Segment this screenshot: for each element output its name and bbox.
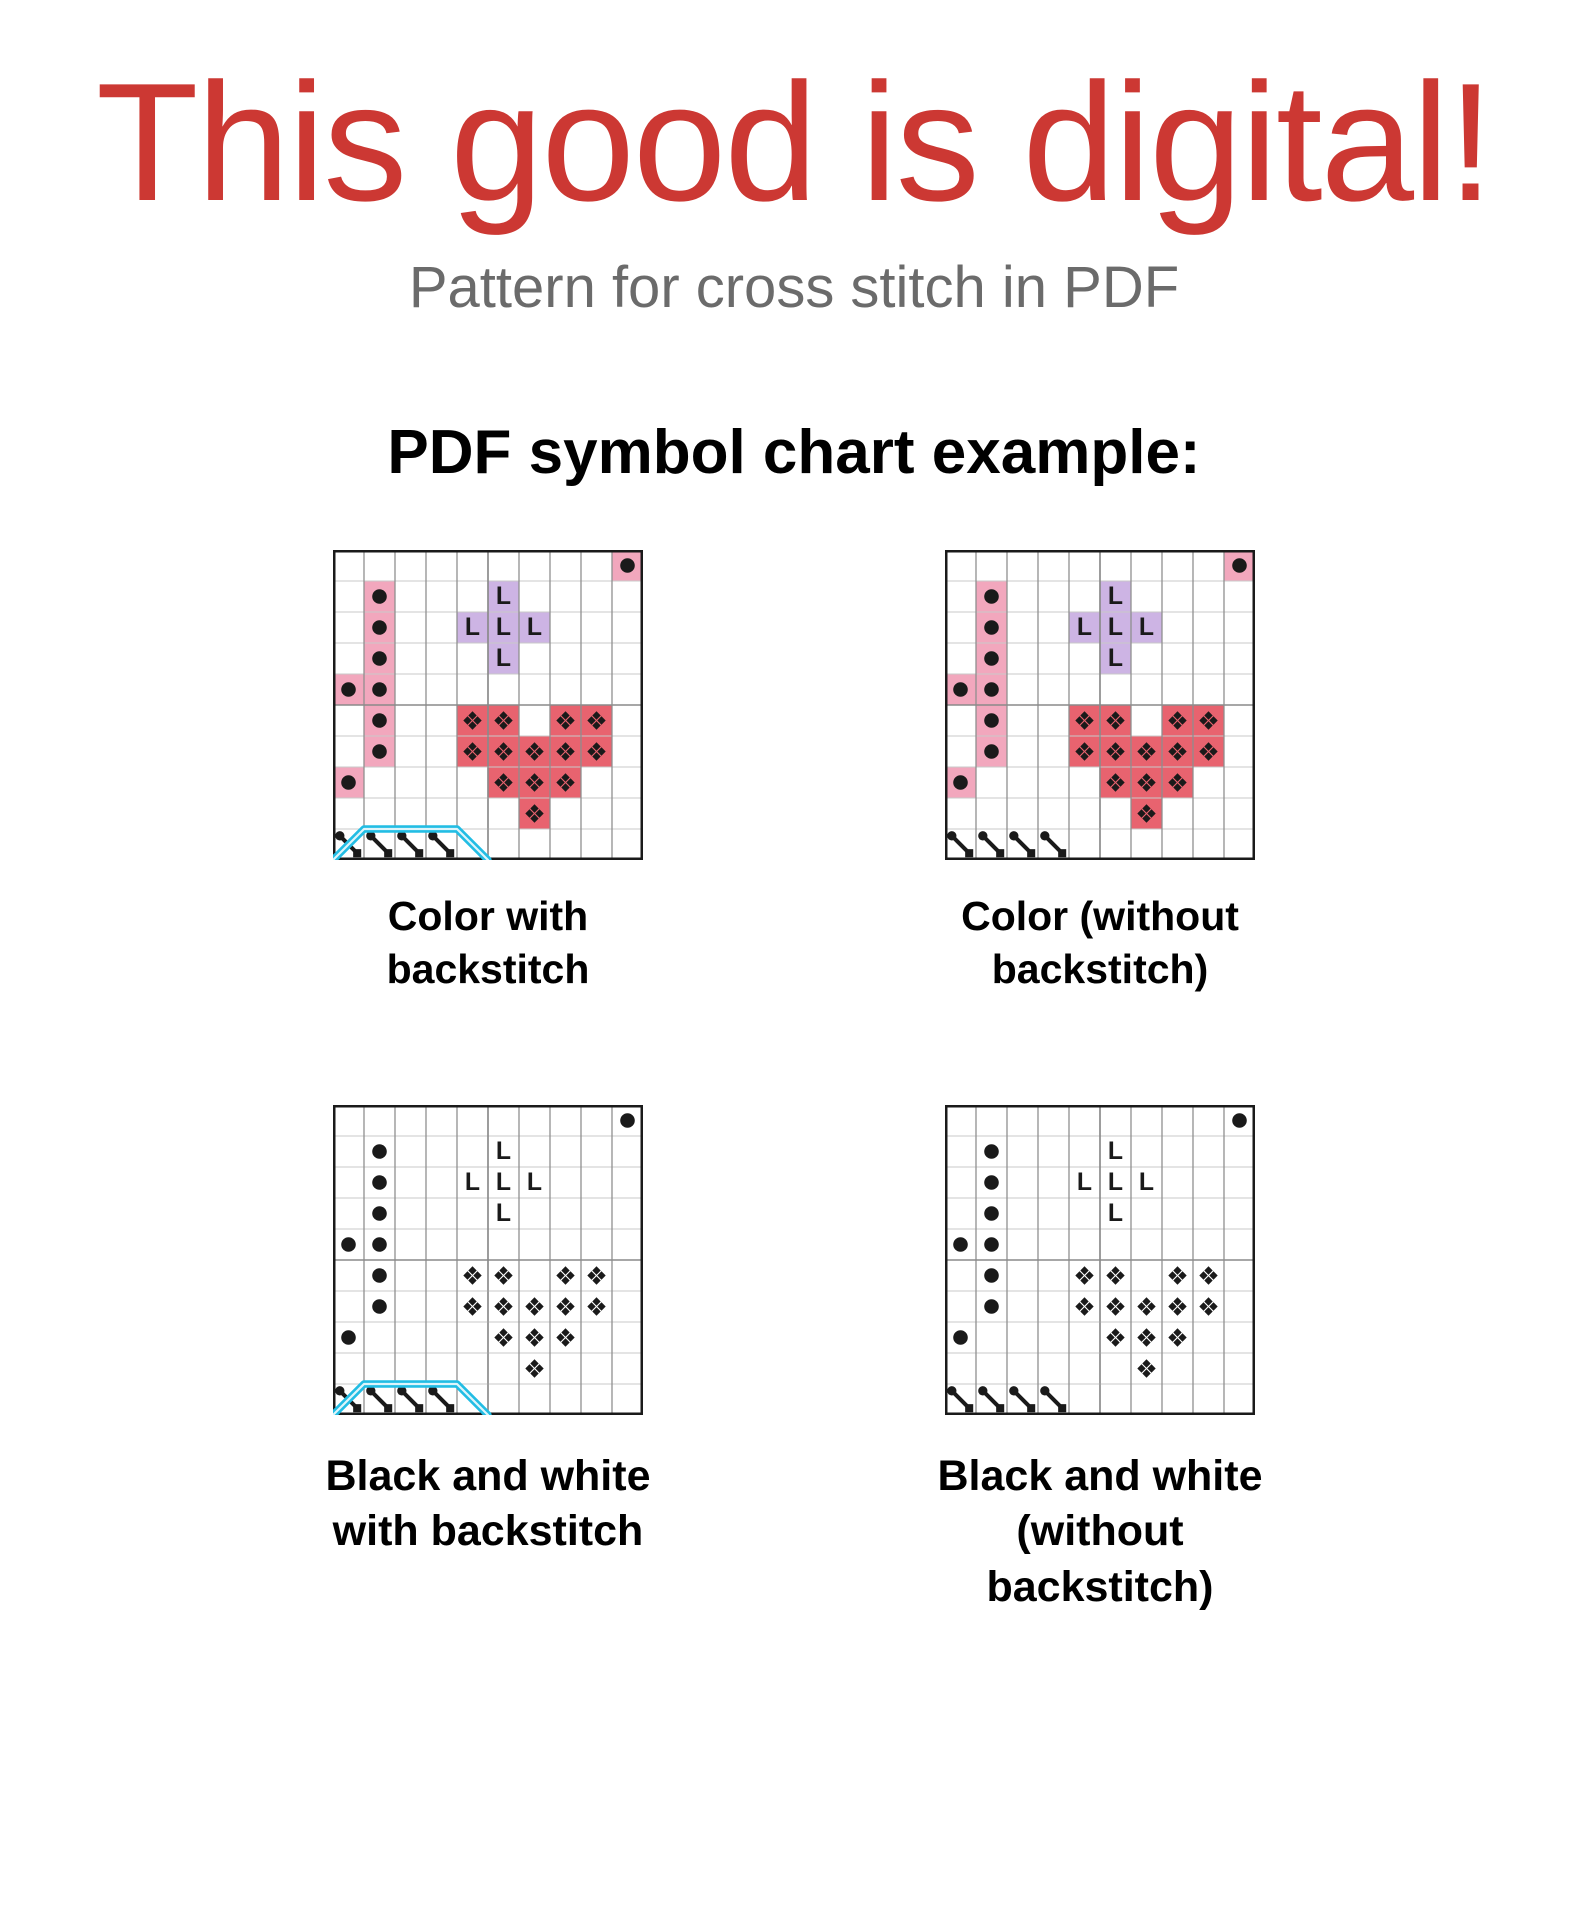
cross-stitch-grid-svg: LLLLL	[945, 550, 1255, 860]
symbol-chart-grid[interactable]: LLLLL	[945, 550, 1255, 860]
symbol-chart-grid[interactable]: LLLLL	[333, 1105, 643, 1415]
chart-caption: Color with backstitch	[298, 890, 678, 997]
svg-text:L: L	[1108, 1200, 1123, 1227]
svg-text:L: L	[527, 614, 542, 641]
svg-text:L: L	[1139, 614, 1154, 641]
page-title: This good is digital!	[96, 58, 1492, 226]
chart-caption: Black and white (without backstitch)	[910, 1449, 1290, 1617]
svg-text:L: L	[496, 1200, 511, 1227]
section-heading: PDF symbol chart example:	[387, 417, 1200, 488]
svg-text:L: L	[465, 614, 480, 641]
chart-row-top: LLLLL Color with backstitch LLLLL Color …	[0, 550, 1588, 997]
svg-text:L: L	[1077, 614, 1092, 641]
svg-text:L: L	[1077, 1169, 1092, 1196]
svg-text:L: L	[527, 1169, 542, 1196]
chart-bw-without-backstitch: LLLLL Black and white (without backstitc…	[910, 1105, 1290, 1617]
page-subtitle: Pattern for cross stitch in PDF	[409, 254, 1179, 321]
chart-row-bottom: LLLLL Black and white with backstitch LL…	[0, 1105, 1588, 1617]
chart-caption: Black and white with backstitch	[326, 1449, 651, 1561]
svg-text:L: L	[1139, 1169, 1154, 1196]
symbol-chart-grid[interactable]: LLLLL	[945, 1105, 1255, 1415]
svg-text:L: L	[496, 1138, 511, 1165]
chart-caption: Color (without backstitch)	[910, 890, 1290, 997]
svg-text:L: L	[496, 614, 511, 641]
svg-text:L: L	[1108, 1138, 1123, 1165]
svg-text:L: L	[496, 645, 511, 672]
symbol-chart-grid[interactable]: LLLLL	[333, 550, 643, 860]
poster: This good is digital! Pattern for cross …	[0, 0, 1588, 1931]
svg-text:L: L	[1108, 583, 1123, 610]
chart-color-with-backstitch: LLLLL Color with backstitch	[298, 550, 678, 997]
chart-color-without-backstitch: LLLLL Color (without backstitch)	[910, 550, 1290, 997]
svg-text:L: L	[1108, 1169, 1123, 1196]
chart-bw-with-backstitch: LLLLL Black and white with backstitch	[298, 1105, 678, 1617]
cross-stitch-grid-svg: LLLLL	[333, 550, 643, 860]
svg-text:L: L	[496, 583, 511, 610]
svg-text:L: L	[496, 1169, 511, 1196]
cross-stitch-grid-svg: LLLLL	[945, 1105, 1255, 1415]
svg-text:L: L	[1108, 645, 1123, 672]
cross-stitch-grid-svg: LLLLL	[333, 1105, 643, 1415]
charts-container: LLLLL Color with backstitch LLLLL Color …	[0, 550, 1588, 1616]
svg-text:L: L	[465, 1169, 480, 1196]
svg-text:L: L	[1108, 614, 1123, 641]
